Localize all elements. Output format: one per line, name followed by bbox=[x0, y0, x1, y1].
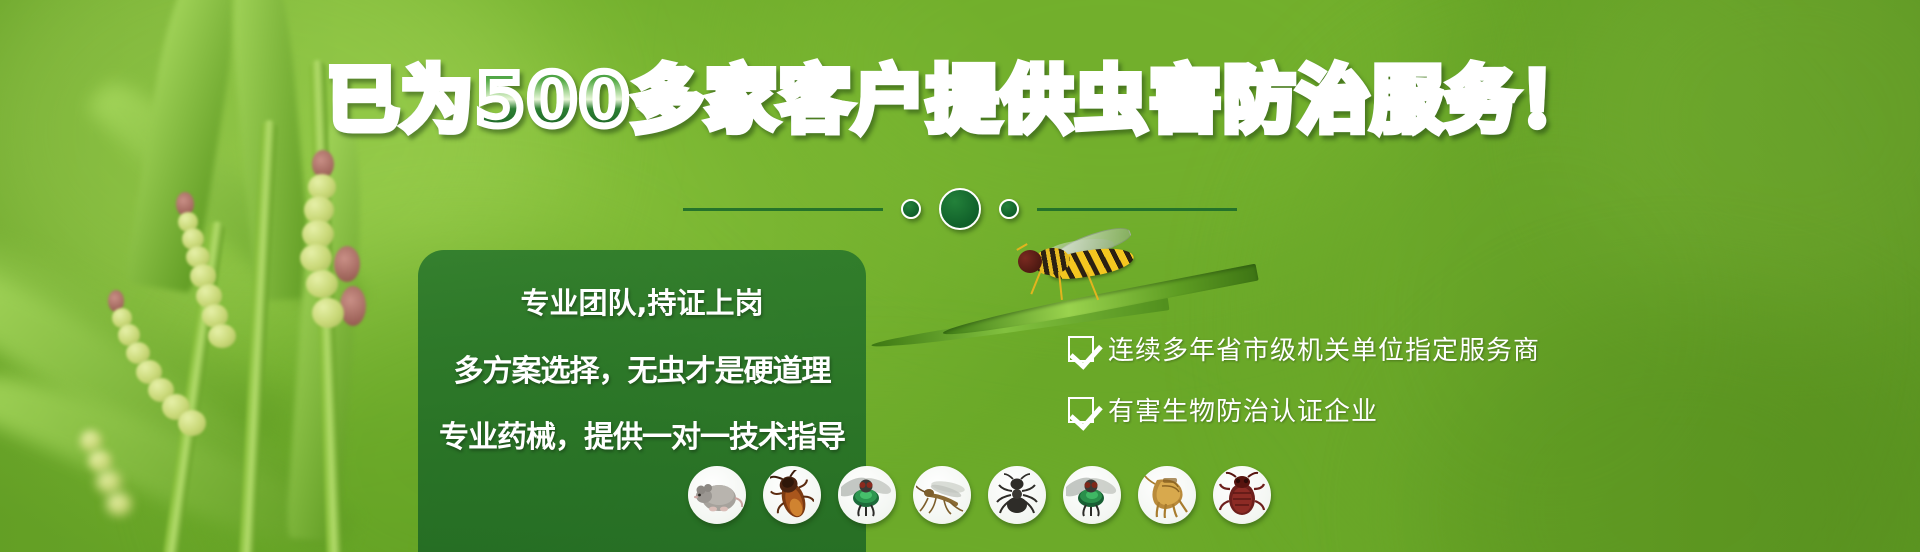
flea-icon[interactable] bbox=[1138, 466, 1196, 524]
hoverfly-illustration bbox=[990, 232, 1240, 342]
bedbug-icon[interactable] bbox=[1213, 466, 1271, 524]
checkmark-icon bbox=[1068, 397, 1094, 423]
list-item: 有害生物防治认证企业 bbox=[1068, 391, 1540, 428]
divider-dot-small-left bbox=[901, 199, 921, 219]
cockroach-icon[interactable] bbox=[763, 466, 821, 524]
mosquito-icon[interactable] bbox=[913, 466, 971, 524]
rodent-icon[interactable] bbox=[688, 466, 746, 524]
ant-icon[interactable] bbox=[988, 466, 1046, 524]
selling-point-line-2: 多方案选择，无虫才是硬道理 bbox=[436, 346, 848, 390]
decorative-divider bbox=[0, 188, 1920, 230]
divider-dot-small-right bbox=[999, 199, 1019, 219]
pest-icon-strip bbox=[688, 466, 1271, 524]
hoverfly-leg bbox=[1030, 270, 1042, 295]
credentials-list: 连续多年省市级机关单位指定服务商 有害生物防治认证企业 bbox=[1068, 330, 1540, 452]
pest-control-banner: 已为500多家客户提供虫害防治服务！ 专业团队,持证上岗 多方案选择，无虫才是硬… bbox=[0, 0, 1920, 552]
divider-dot-large bbox=[939, 188, 981, 230]
blowfly-icon[interactable] bbox=[1063, 466, 1121, 524]
headline-container: 已为500多家客户提供虫害防治服务！ bbox=[0, 62, 1920, 140]
divider-line-right bbox=[1037, 208, 1237, 211]
credential-label: 连续多年省市级机关单位指定服务商 bbox=[1108, 330, 1540, 367]
list-item: 连续多年省市级机关单位指定服务商 bbox=[1068, 330, 1540, 367]
fly-icon[interactable] bbox=[838, 466, 896, 524]
checkmark-icon bbox=[1068, 336, 1094, 362]
selling-point-line-3: 专业药械，提供一对一技术指导 bbox=[436, 412, 848, 456]
page-title: 已为500多家客户提供虫害防治服务！ bbox=[327, 62, 1593, 140]
credential-label: 有害生物防治认证企业 bbox=[1108, 391, 1378, 428]
selling-point-line-1: 专业团队,持证上岗 bbox=[436, 280, 848, 322]
hoverfly-head bbox=[1018, 250, 1042, 273]
divider-line-left bbox=[683, 208, 883, 211]
